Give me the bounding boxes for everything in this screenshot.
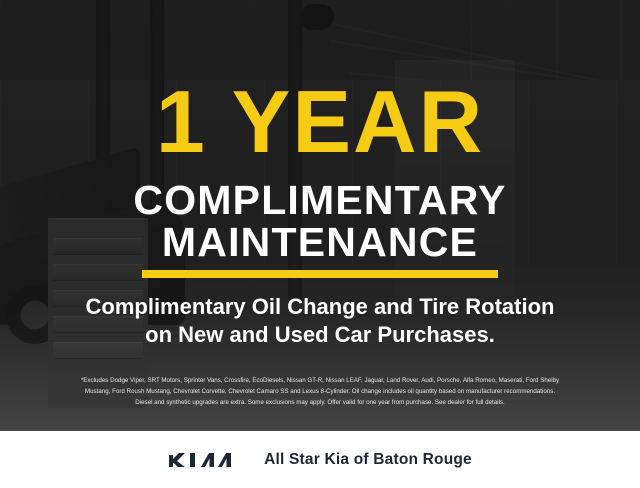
offer-description-line1: Complimentary Oil Change and Tire Rotati… bbox=[0, 293, 640, 320]
banner-content: 1 YEAR COMPLIMENTARY MAINTENANCE Complim… bbox=[0, 0, 640, 431]
kia-logo-icon bbox=[168, 449, 242, 471]
offer-description-line2: on New and Used Car Purchases. bbox=[0, 321, 640, 348]
promo-banner: 1 YEAR COMPLIMENTARY MAINTENANCE Complim… bbox=[0, 0, 640, 488]
headline-year: 1 YEAR bbox=[0, 78, 640, 166]
disclaimer-text: *Excludes Dodge Viper, SRT Motors, Sprin… bbox=[0, 374, 640, 422]
headline-complimentary: COMPLIMENTARY bbox=[0, 180, 640, 221]
headline-maintenance: MAINTENANCE bbox=[0, 222, 640, 263]
footer-bar: All Star Kia of Baton Rouge bbox=[0, 431, 640, 488]
disclaimer-line-2: Mustang, Ford Roush Mustang, Chevrolet C… bbox=[8, 387, 632, 398]
disclaimer-line-1: *Excludes Dodge Viper, SRT Motors, Sprin… bbox=[8, 376, 632, 387]
disclaimer-line-3: Diesel and synthetic upgrades are extra.… bbox=[8, 398, 632, 409]
dealer-name: All Star Kia of Baton Rouge bbox=[264, 451, 472, 469]
yellow-divider bbox=[142, 270, 498, 278]
